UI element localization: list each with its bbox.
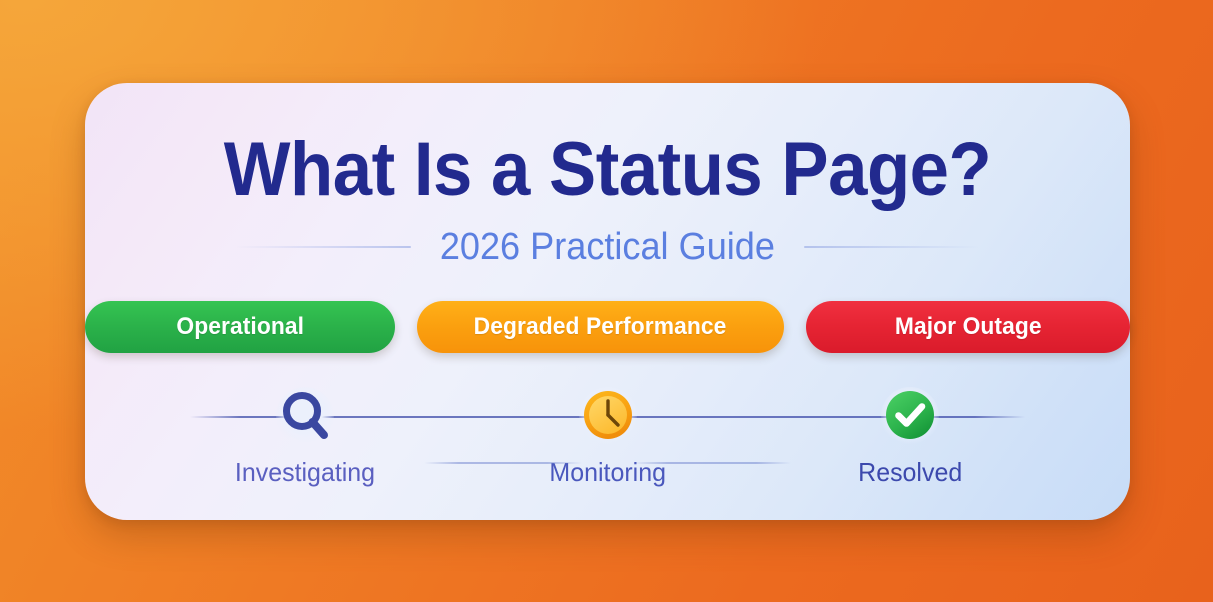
status-badge-major-outage-label: Major Outage [895, 313, 1042, 341]
clock-icon [580, 383, 636, 449]
timeline-step-monitoring[interactable]: Monitoring [493, 383, 723, 488]
connector-spacer-left [190, 462, 399, 464]
connector-spacer-right [816, 462, 1025, 464]
status-badge-degraded-performance-label: Degraded Performance [474, 313, 727, 341]
timeline-label-connectors [190, 462, 1025, 464]
subtitle-rule-right [804, 246, 979, 248]
timeline-step-resolved[interactable]: Resolved [795, 383, 1025, 488]
timeline-step-investigating[interactable]: Investigating [190, 383, 420, 488]
status-badge-group: Operational Degraded Performance Major O… [85, 301, 1130, 353]
page-subtitle: 2026 Practical Guide [440, 225, 775, 269]
connector-monitoring-resolved [608, 462, 817, 464]
infographic-canvas: What Is a Status Page? 2026 Practical Gu… [0, 0, 1213, 602]
page-title: What Is a Status Page? [122, 129, 1094, 211]
subtitle-rule-left [236, 246, 411, 248]
connector-investigating-monitoring [399, 462, 608, 464]
status-badge-degraded-performance[interactable]: Degraded Performance [417, 301, 785, 353]
magnifying-glass-icon [277, 383, 333, 449]
status-badge-operational[interactable]: Operational [85, 301, 395, 353]
timeline-steps: Investigating [190, 383, 1025, 488]
incident-timeline: Investigating [190, 383, 1025, 493]
check-circle-icon [882, 383, 938, 449]
status-page-card: What Is a Status Page? 2026 Practical Gu… [85, 83, 1130, 520]
status-badge-major-outage[interactable]: Major Outage [806, 301, 1130, 353]
status-badge-operational-label: Operational [176, 313, 304, 341]
subtitle-row: 2026 Practical Guide [85, 225, 1130, 269]
